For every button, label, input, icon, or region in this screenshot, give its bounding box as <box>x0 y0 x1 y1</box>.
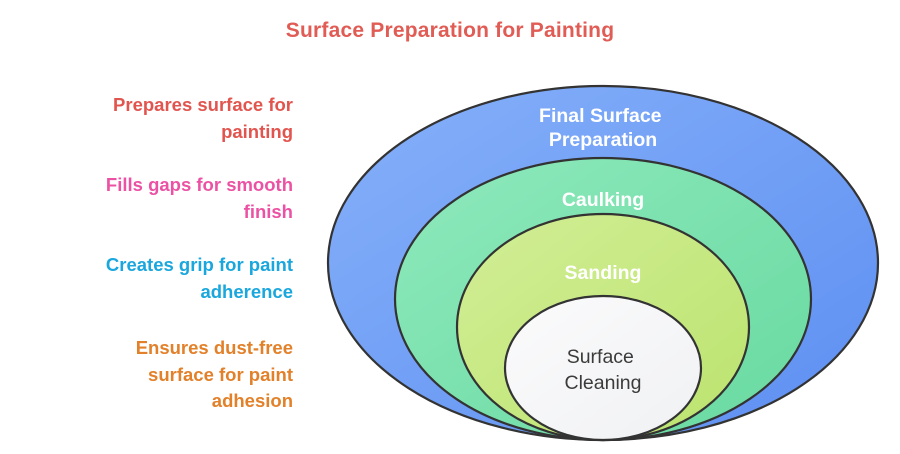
annotation-line: adherence <box>8 279 293 306</box>
diagram-canvas: Surface Preparation for Painting <box>0 0 900 454</box>
annotation-line: Fills gaps for smooth <box>8 172 293 199</box>
onion-label-caulking: Caulking <box>562 189 644 211</box>
annotation-fills-gaps: Fills gaps for smooth finish <box>8 172 293 225</box>
annotation-line: adhesion <box>8 388 293 415</box>
annotation-creates-grip: Creates grip for paint adherence <box>8 252 293 305</box>
annotation-line: painting <box>8 119 293 146</box>
annotation-line: Prepares surface for <box>8 92 293 119</box>
onion-label-sanding: Sanding <box>565 262 642 284</box>
annotation-line: Creates grip for paint <box>8 252 293 279</box>
annotation-line: Ensures dust-free <box>8 335 293 362</box>
annotation-line: surface for paint <box>8 362 293 389</box>
annotation-line: finish <box>8 199 293 226</box>
annotation-ensures-dust-free: Ensures dust-free surface for paint adhe… <box>8 335 293 415</box>
annotation-prepares-surface: Prepares surface for painting <box>8 92 293 145</box>
